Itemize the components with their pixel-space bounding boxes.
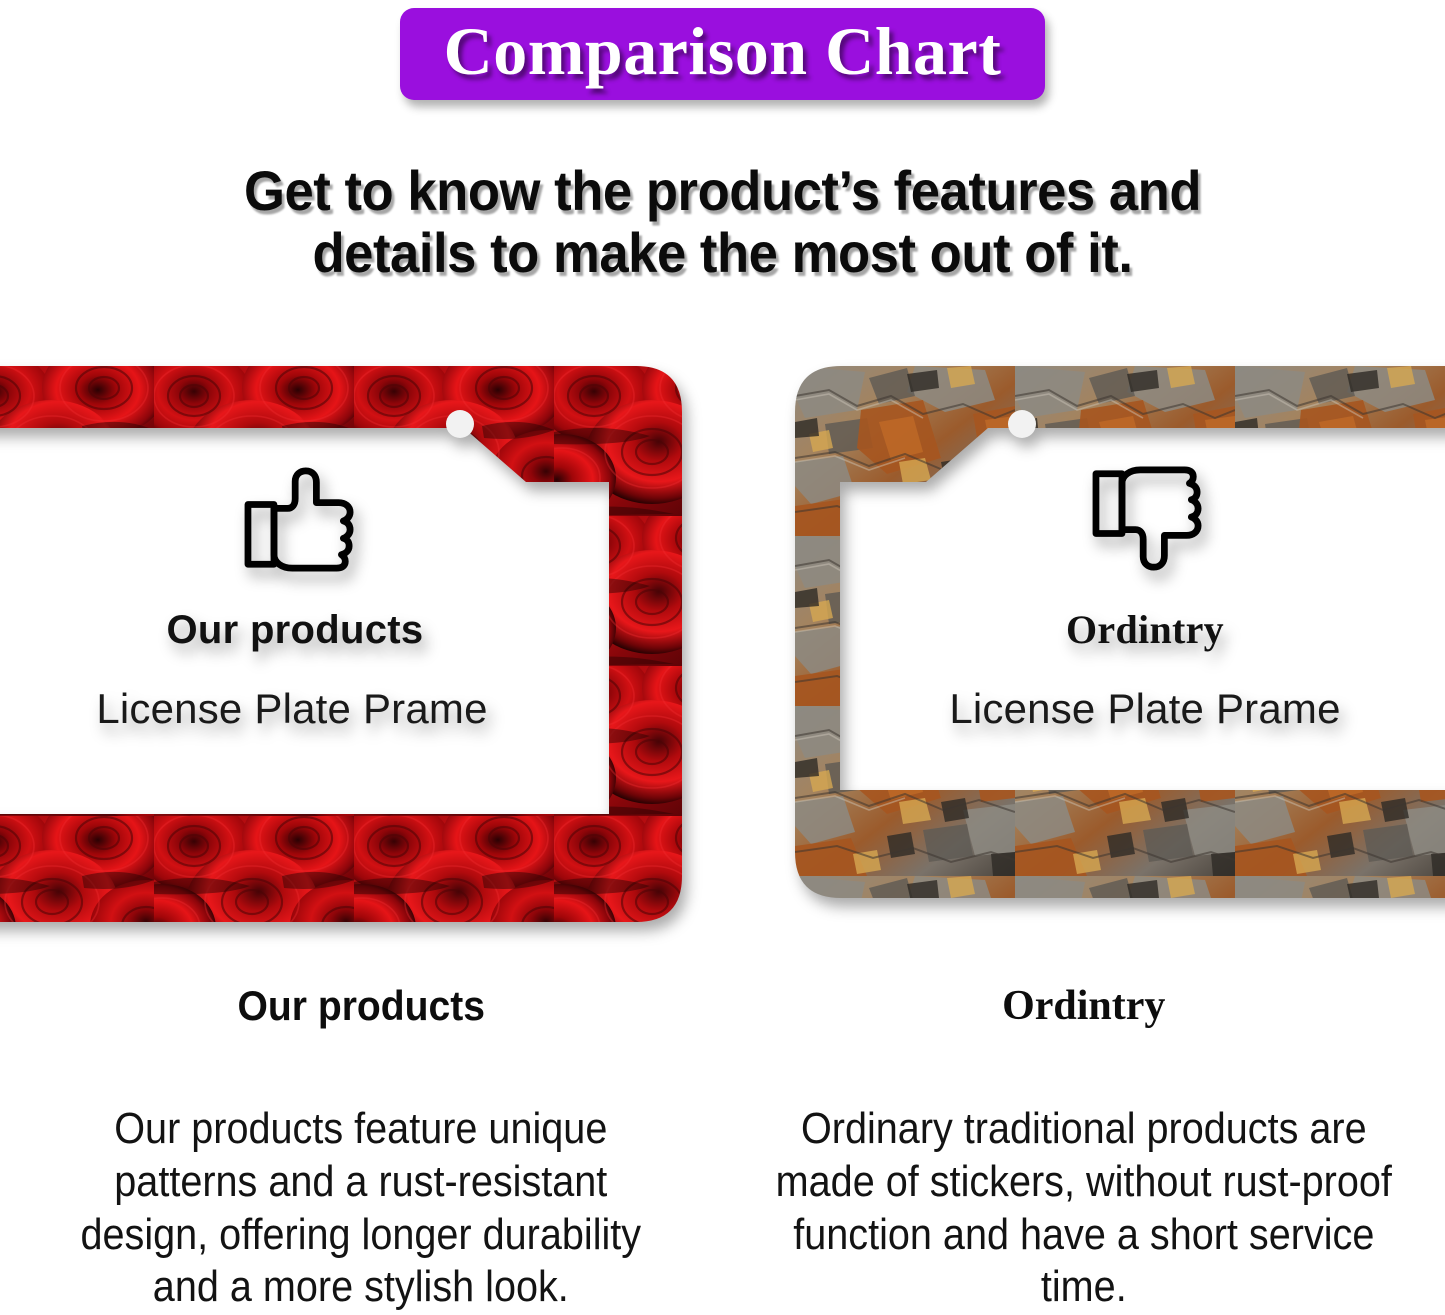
subtitle-line-1: Get to know the product’s features and bbox=[43, 160, 1401, 222]
comparison-column-left: Our products Our products feature unique… bbox=[0, 985, 723, 1315]
subtitle-line-2: details to make the most out of it. bbox=[43, 222, 1401, 284]
column-heading-left: Our products bbox=[25, 985, 697, 1027]
mounting-hole-right bbox=[1008, 410, 1036, 438]
page-title: Comparison Chart bbox=[444, 17, 1002, 85]
thumbs-down-icon bbox=[1090, 466, 1206, 572]
column-heading-right: Ordintry bbox=[723, 985, 1445, 1027]
plate-content-right: Ordintry License Plate Prame bbox=[815, 466, 1445, 886]
mounting-hole-left bbox=[446, 410, 474, 438]
comparison-details: Our products Our products feature unique… bbox=[0, 985, 1445, 1315]
title-banner-wrap: Comparison Chart bbox=[0, 8, 1445, 100]
title-banner: Comparison Chart bbox=[400, 8, 1046, 100]
plate-title-right: Ordintry bbox=[1066, 610, 1224, 650]
plate-subtitle-left: License Plate Prame bbox=[96, 688, 487, 730]
comparison-column-right: Ordintry Ordinary traditional products a… bbox=[723, 985, 1445, 1315]
column-body-right: Ordinary traditional products are made o… bbox=[759, 1103, 1408, 1314]
plate-content-left: Our products License Plate Prame bbox=[0, 466, 636, 886]
product-frame-right: Ordintry License Plate Prame bbox=[795, 366, 1445, 898]
product-frame-left: Our products License Plate Prame bbox=[0, 366, 682, 922]
column-body-left: Our products feature unique patterns and… bbox=[40, 1103, 682, 1314]
thumbs-up-icon bbox=[242, 466, 358, 572]
plate-title-left: Our products bbox=[167, 610, 424, 650]
plate-subtitle-right: License Plate Prame bbox=[949, 688, 1340, 730]
subtitle: Get to know the product’s features and d… bbox=[43, 160, 1401, 283]
